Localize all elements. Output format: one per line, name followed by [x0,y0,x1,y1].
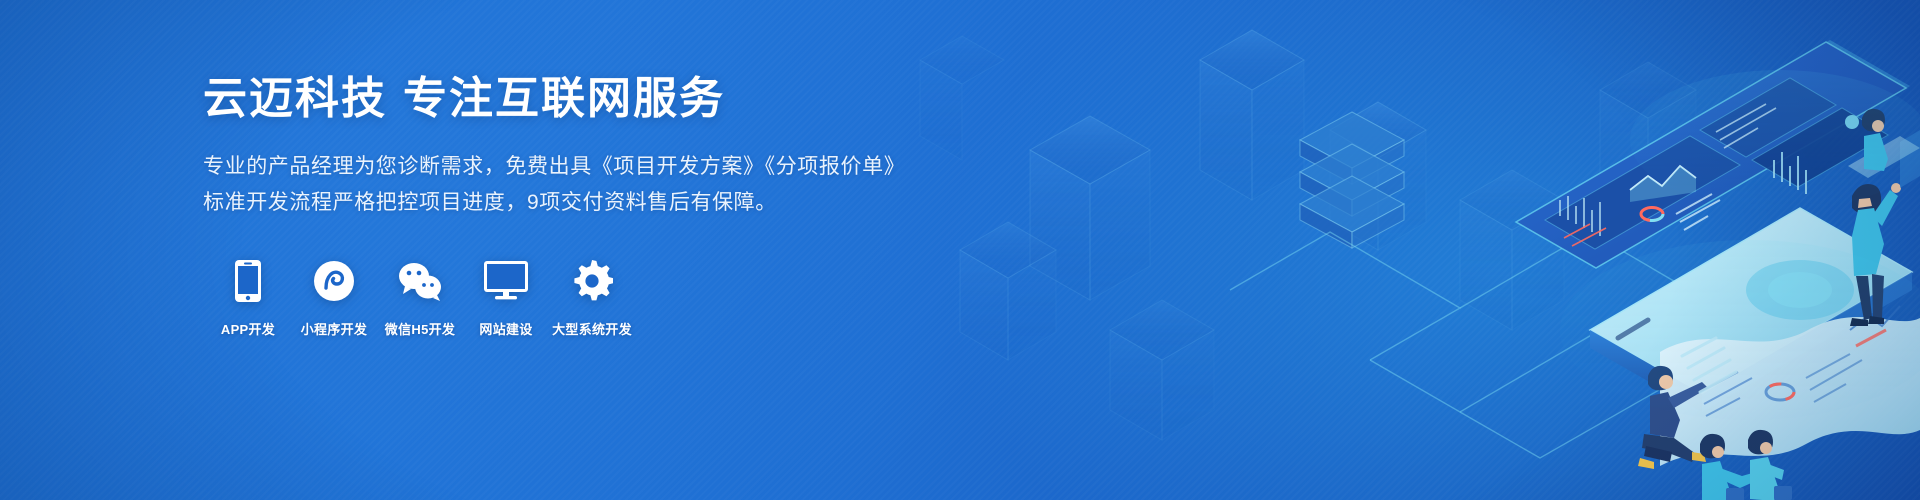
service-label: 小程序开发 [301,319,368,338]
service-item-large-system[interactable]: 大型系统开发 [555,257,629,338]
subtitle-line-1: 专业的产品经理为您诊断需求，免费出具《项目开发方案》《分项报价单》 [203,149,903,185]
service-item-wechat-h5[interactable]: 微信H5开发 [383,257,457,338]
promo-banner: 云迈科技专注互联网服务 专业的产品经理为您诊断需求，免费出具《项目开发方案》《分… [0,0,1920,500]
service-item-website[interactable]: 网站建设 [469,257,543,338]
service-label: 网站建设 [479,319,532,338]
service-label: 大型系统开发 [552,319,632,338]
title-brand: 云迈科技 [203,74,387,123]
title-tagline: 专注互联网服务 [403,74,725,123]
wechat-icon [396,257,444,305]
mini-program-icon [310,257,358,305]
service-label: 微信H5开发 [385,319,455,338]
service-item-mini-program[interactable]: 小程序开发 [297,257,371,338]
banner-content: 云迈科技专注互联网服务 专业的产品经理为您诊断需求，免费出具《项目开发方案》《分… [203,74,903,338]
server-stack-block [1300,112,1404,248]
gear-icon [568,257,616,305]
monitor-icon [482,257,530,305]
service-label: APP开发 [221,319,275,338]
page-title: 云迈科技专注互联网服务 [203,74,903,123]
service-list: APP开发 小程序开发 [203,257,903,338]
mobile-phone-icon [224,257,272,305]
subtitle-line-2: 标准开发流程严格把控项目进度，9项交付资料售后有保障。 [203,185,903,221]
service-item-app[interactable]: APP开发 [211,257,285,338]
illustration [900,0,1920,500]
